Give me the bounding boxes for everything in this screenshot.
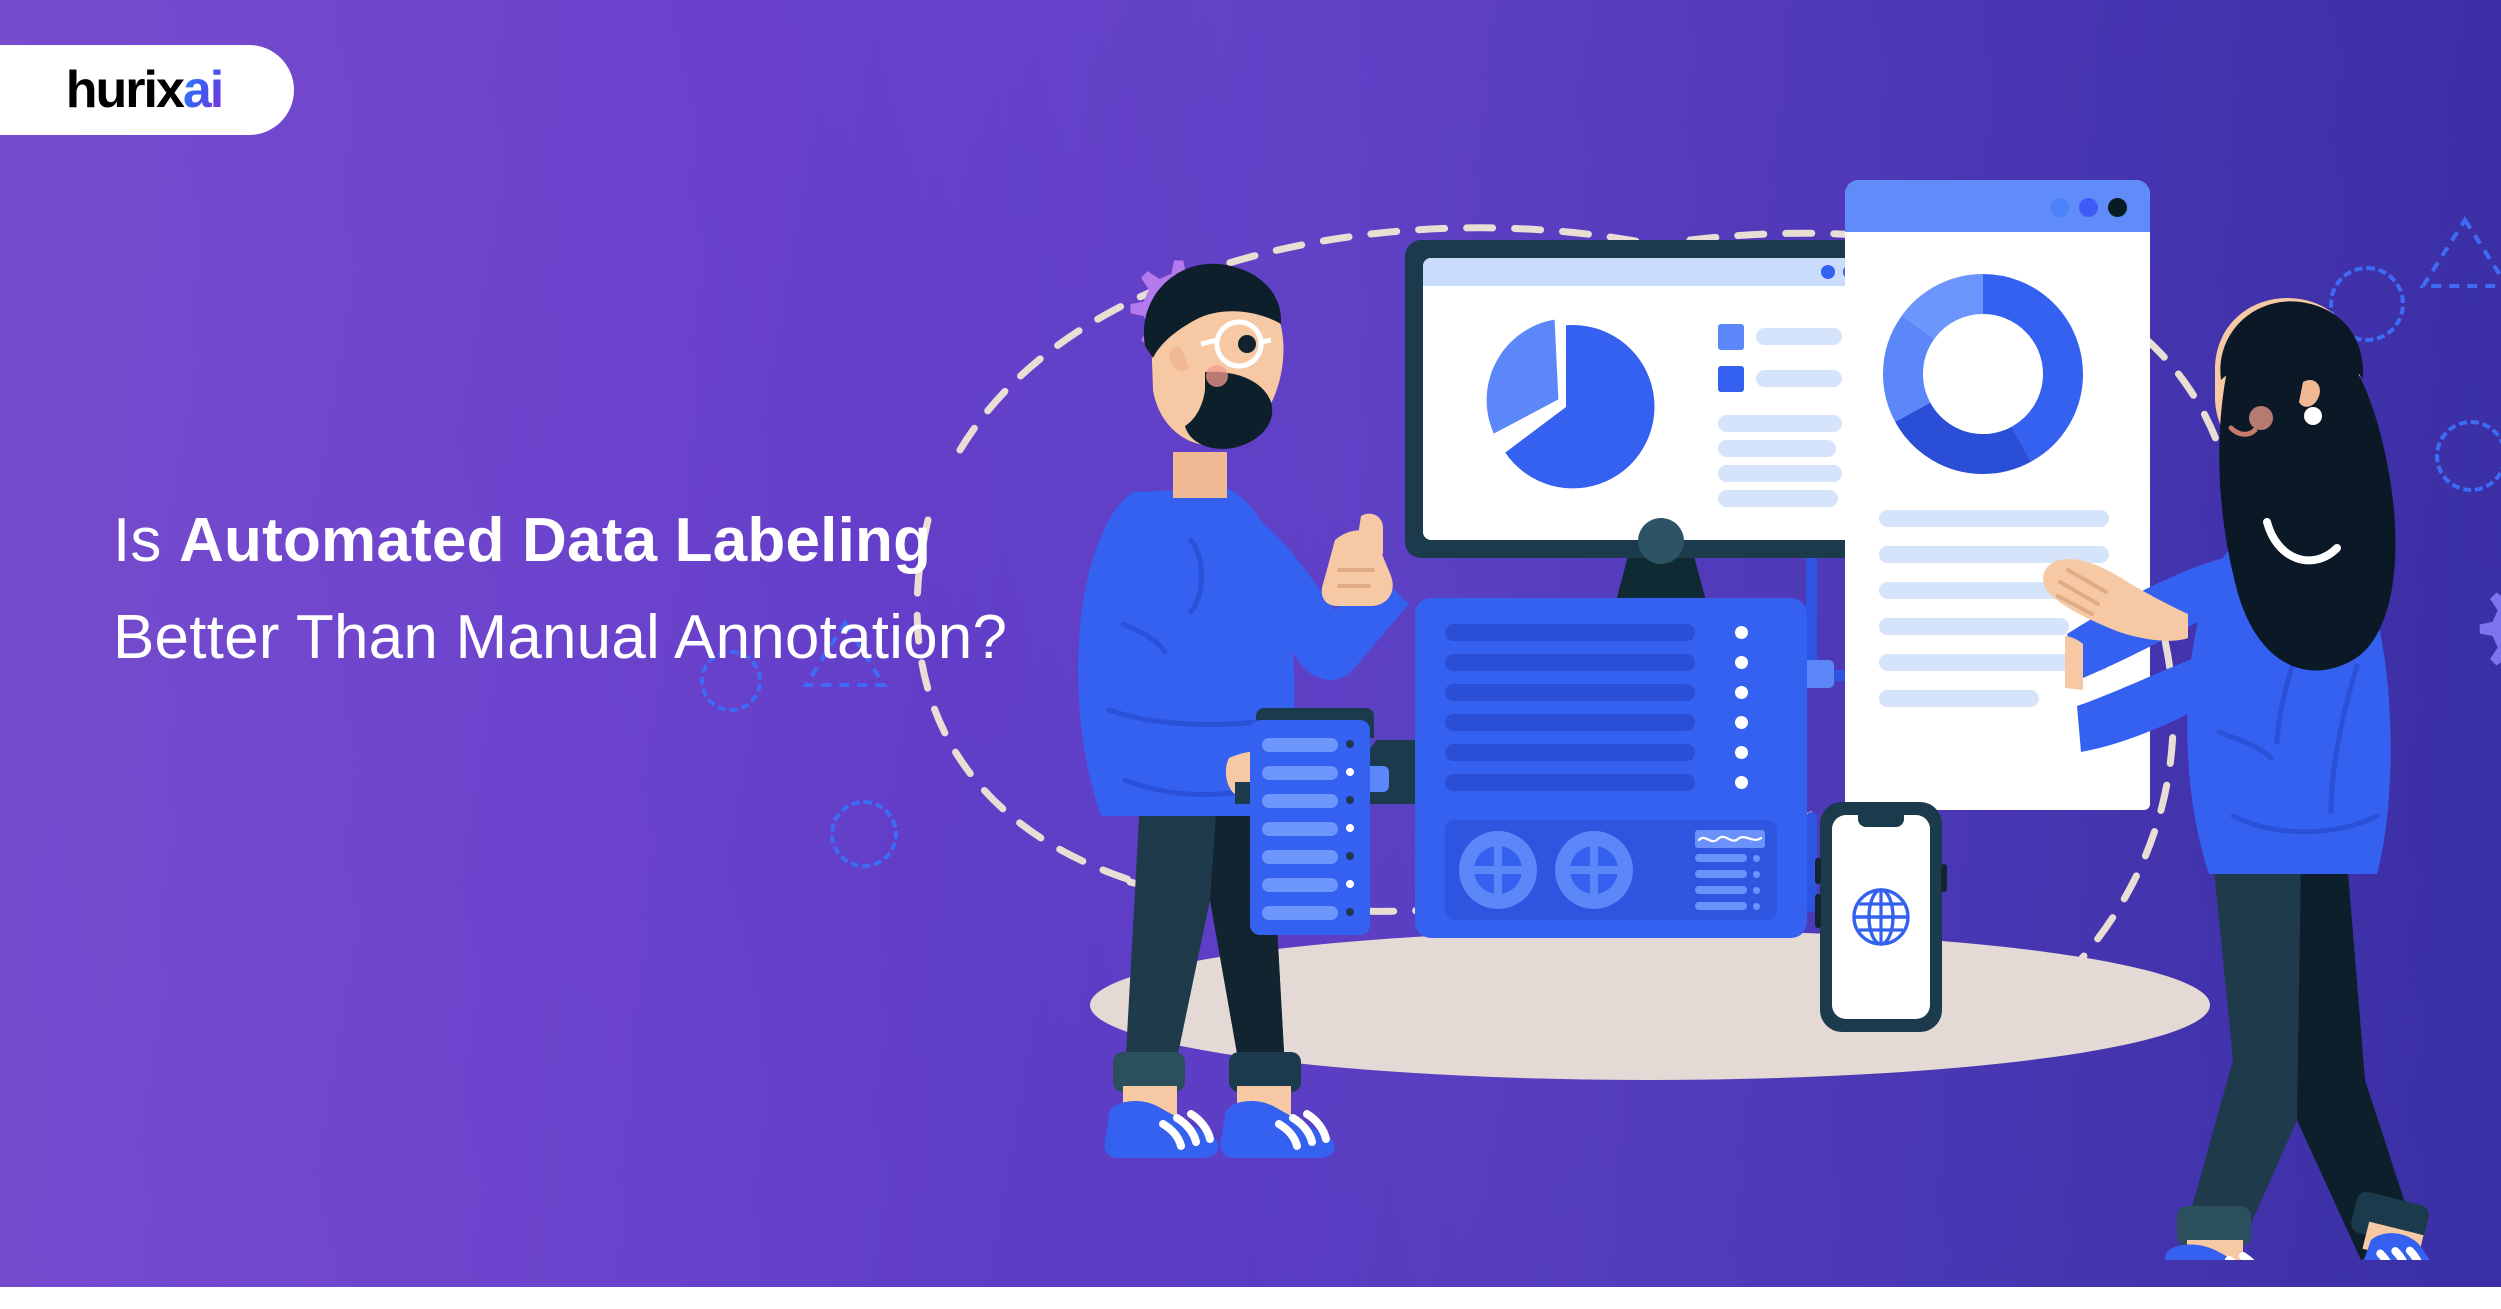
status-line [1695, 854, 1747, 862]
window-dot-icon[interactable] [2108, 198, 2127, 217]
text-placeholder-line [1718, 440, 1836, 457]
status-dot [1753, 855, 1760, 862]
status-line [1695, 870, 1747, 878]
bottom-edge [0, 1287, 2501, 1309]
status-dot [1753, 887, 1760, 894]
dashed-circle-icon [830, 800, 898, 868]
window-dot-icon[interactable] [1821, 265, 1835, 279]
phone-notch [1858, 815, 1904, 827]
server-slot [1445, 624, 1695, 641]
fan-icon [1555, 831, 1633, 909]
page-title: Is Automated Data Labeling Better Than M… [113, 492, 1053, 686]
monitor [1405, 240, 1915, 558]
server-led [1735, 716, 1748, 729]
phone-button[interactable] [1941, 864, 1947, 892]
logo[interactable]: hurixai [0, 45, 294, 135]
headline-emphasis: Automated Data Labeling [179, 506, 931, 575]
legend-swatch [1718, 324, 1744, 350]
logo-wordmark: hurixai [66, 64, 223, 116]
rack-slot [1262, 906, 1338, 920]
server-rack-small [1250, 720, 1370, 935]
donut-chart [1883, 274, 2083, 474]
phone-button[interactable] [1815, 894, 1821, 928]
headline-lead: Is [113, 506, 179, 575]
rack-led [1346, 824, 1354, 832]
waveform-icon [1695, 830, 1765, 848]
server-slot [1445, 744, 1695, 761]
server-front-panel [1445, 820, 1777, 920]
phone-button[interactable] [1815, 858, 1821, 884]
logo-text-primary: hurix [66, 64, 183, 116]
server-slot [1445, 774, 1695, 791]
globe-icon [1849, 885, 1913, 949]
rack-led [1346, 880, 1354, 888]
logo-text-accent: ai [183, 64, 222, 116]
hero-illustration [960, 120, 2501, 1309]
rack-led [1346, 768, 1354, 776]
rack-led [1346, 908, 1354, 916]
server-slot [1445, 654, 1695, 671]
legend-label-placeholder [1756, 328, 1842, 345]
legend-swatch [1718, 366, 1744, 392]
window-dot-icon[interactable] [2050, 198, 2069, 217]
smartphone [1820, 802, 1942, 1032]
text-placeholder-line [1879, 690, 2039, 707]
window-titlebar [1423, 258, 1897, 286]
hand-on-chart [2020, 520, 2200, 660]
server-led [1735, 776, 1748, 789]
server-tower [1415, 598, 1807, 938]
status-dot [1753, 903, 1760, 910]
rack-slot [1262, 766, 1338, 780]
pie-chart [1471, 312, 1661, 502]
status-dot [1753, 871, 1760, 878]
monitor-screen [1423, 258, 1897, 540]
server-led [1735, 626, 1748, 639]
status-line [1695, 886, 1747, 894]
rack-slot [1262, 850, 1338, 864]
rack-slot [1262, 794, 1338, 808]
text-placeholder-line [1718, 465, 1842, 482]
status-line [1695, 902, 1747, 910]
fan-icon [1459, 831, 1537, 909]
rack-led [1346, 796, 1354, 804]
character-woman [2065, 260, 2485, 1260]
headline-tail: Better Than Manual Annotation? [113, 603, 1007, 672]
rack-led [1346, 740, 1354, 748]
hero-banner: hurixai Is Automated Data Labeling Bette… [0, 0, 2501, 1309]
monitor-power-button[interactable] [1638, 518, 1684, 564]
server-led [1735, 686, 1748, 699]
rack-slot [1262, 878, 1338, 892]
text-placeholder-line [1718, 490, 1838, 507]
server-slot [1445, 684, 1695, 701]
rack-slot [1262, 822, 1338, 836]
legend-label-placeholder [1756, 370, 1842, 387]
status-gauge [1695, 830, 1773, 910]
server-led [1735, 746, 1748, 759]
rack-slot [1262, 738, 1338, 752]
text-placeholder-line [1718, 415, 1842, 432]
window-titlebar [1845, 180, 2150, 232]
server-led [1735, 656, 1748, 669]
server-slot [1445, 714, 1695, 731]
phone-screen [1832, 815, 1930, 1019]
rack-led [1346, 852, 1354, 860]
window-dot-icon[interactable] [2079, 198, 2098, 217]
